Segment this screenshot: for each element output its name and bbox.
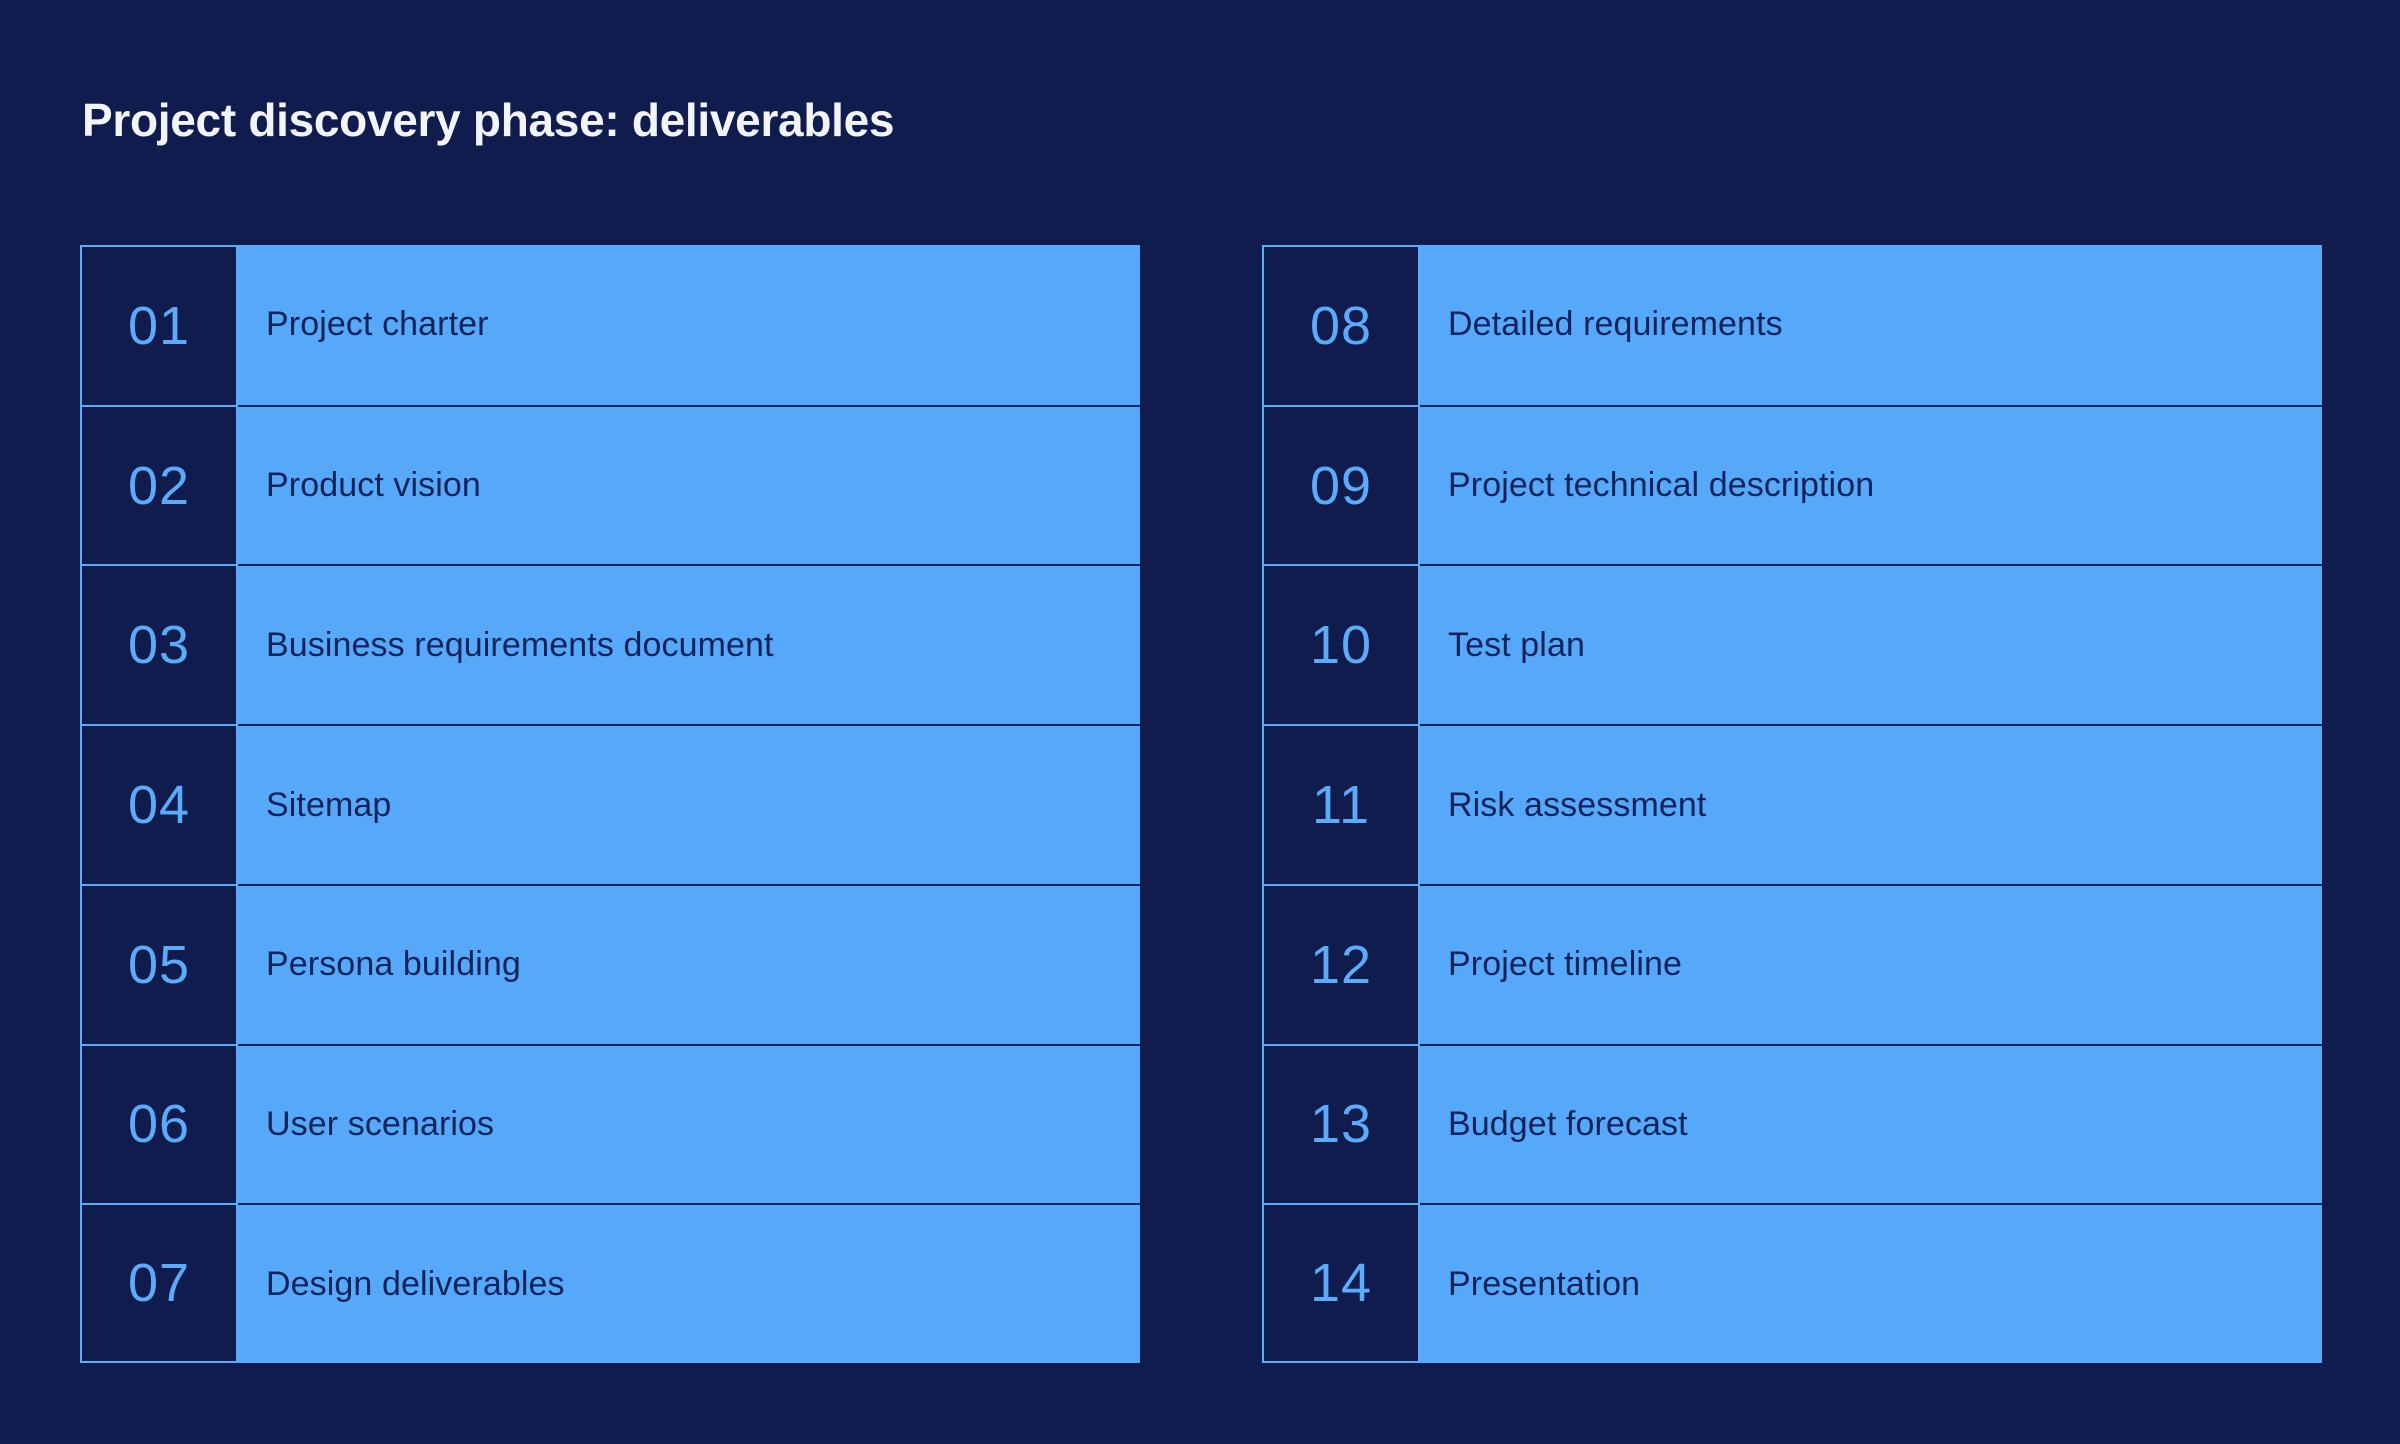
deliverables-table-left: 01 Project charter 02 Product vision 03 …: [80, 245, 1140, 1363]
deliverable-row[interactable]: 04 Sitemap: [80, 724, 1140, 884]
deliverable-row[interactable]: 14 Presentation: [1262, 1203, 2322, 1363]
deliverable-number: 01: [80, 245, 238, 405]
deliverable-row[interactable]: 10 Test plan: [1262, 564, 2322, 724]
deliverable-number: 03: [80, 564, 238, 724]
deliverable-row[interactable]: 11 Risk assessment: [1262, 724, 2322, 884]
deliverable-label: Project timeline: [1420, 884, 2322, 1044]
deliverable-label: Design deliverables: [238, 1203, 1140, 1363]
deliverables-table-right: 08 Detailed requirements 09 Project tech…: [1262, 245, 2322, 1363]
deliverable-row[interactable]: 07 Design deliverables: [80, 1203, 1140, 1363]
deliverable-number: 02: [80, 405, 238, 565]
deliverable-label: Budget forecast: [1420, 1044, 2322, 1204]
deliverable-number: 11: [1262, 724, 1420, 884]
deliverable-number: 13: [1262, 1044, 1420, 1204]
deliverable-row[interactable]: 01 Project charter: [80, 245, 1140, 405]
deliverable-label: Sitemap: [238, 724, 1140, 884]
deliverable-number: 04: [80, 724, 238, 884]
page-title: Project discovery phase: deliverables: [82, 93, 894, 147]
deliverable-label: Test plan: [1420, 564, 2322, 724]
deliverable-number: 14: [1262, 1203, 1420, 1363]
deliverable-number: 06: [80, 1044, 238, 1204]
slide-canvas: Project discovery phase: deliverables 01…: [0, 0, 2400, 1444]
deliverable-number: 12: [1262, 884, 1420, 1044]
deliverable-number: 10: [1262, 564, 1420, 724]
deliverable-row[interactable]: 13 Budget forecast: [1262, 1044, 2322, 1204]
deliverable-label: User scenarios: [238, 1044, 1140, 1204]
deliverable-label: Persona building: [238, 884, 1140, 1044]
deliverable-label: Business requirements document: [238, 564, 1140, 724]
deliverable-row[interactable]: 12 Project timeline: [1262, 884, 2322, 1044]
deliverable-label: Project charter: [238, 245, 1140, 405]
deliverable-row[interactable]: 02 Product vision: [80, 405, 1140, 565]
deliverable-label: Detailed requirements: [1420, 245, 2322, 405]
deliverable-label: Presentation: [1420, 1203, 2322, 1363]
deliverable-number: 07: [80, 1203, 238, 1363]
deliverable-row[interactable]: 06 User scenarios: [80, 1044, 1140, 1204]
deliverable-row[interactable]: 03 Business requirements document: [80, 564, 1140, 724]
deliverable-number: 08: [1262, 245, 1420, 405]
deliverable-label: Product vision: [238, 405, 1140, 565]
deliverable-label: Project technical description: [1420, 405, 2322, 565]
deliverable-label: Risk assessment: [1420, 724, 2322, 884]
deliverable-row[interactable]: 08 Detailed requirements: [1262, 245, 2322, 405]
deliverable-row[interactable]: 05 Persona building: [80, 884, 1140, 1044]
deliverable-number: 09: [1262, 405, 1420, 565]
deliverable-row[interactable]: 09 Project technical description: [1262, 405, 2322, 565]
deliverable-number: 05: [80, 884, 238, 1044]
